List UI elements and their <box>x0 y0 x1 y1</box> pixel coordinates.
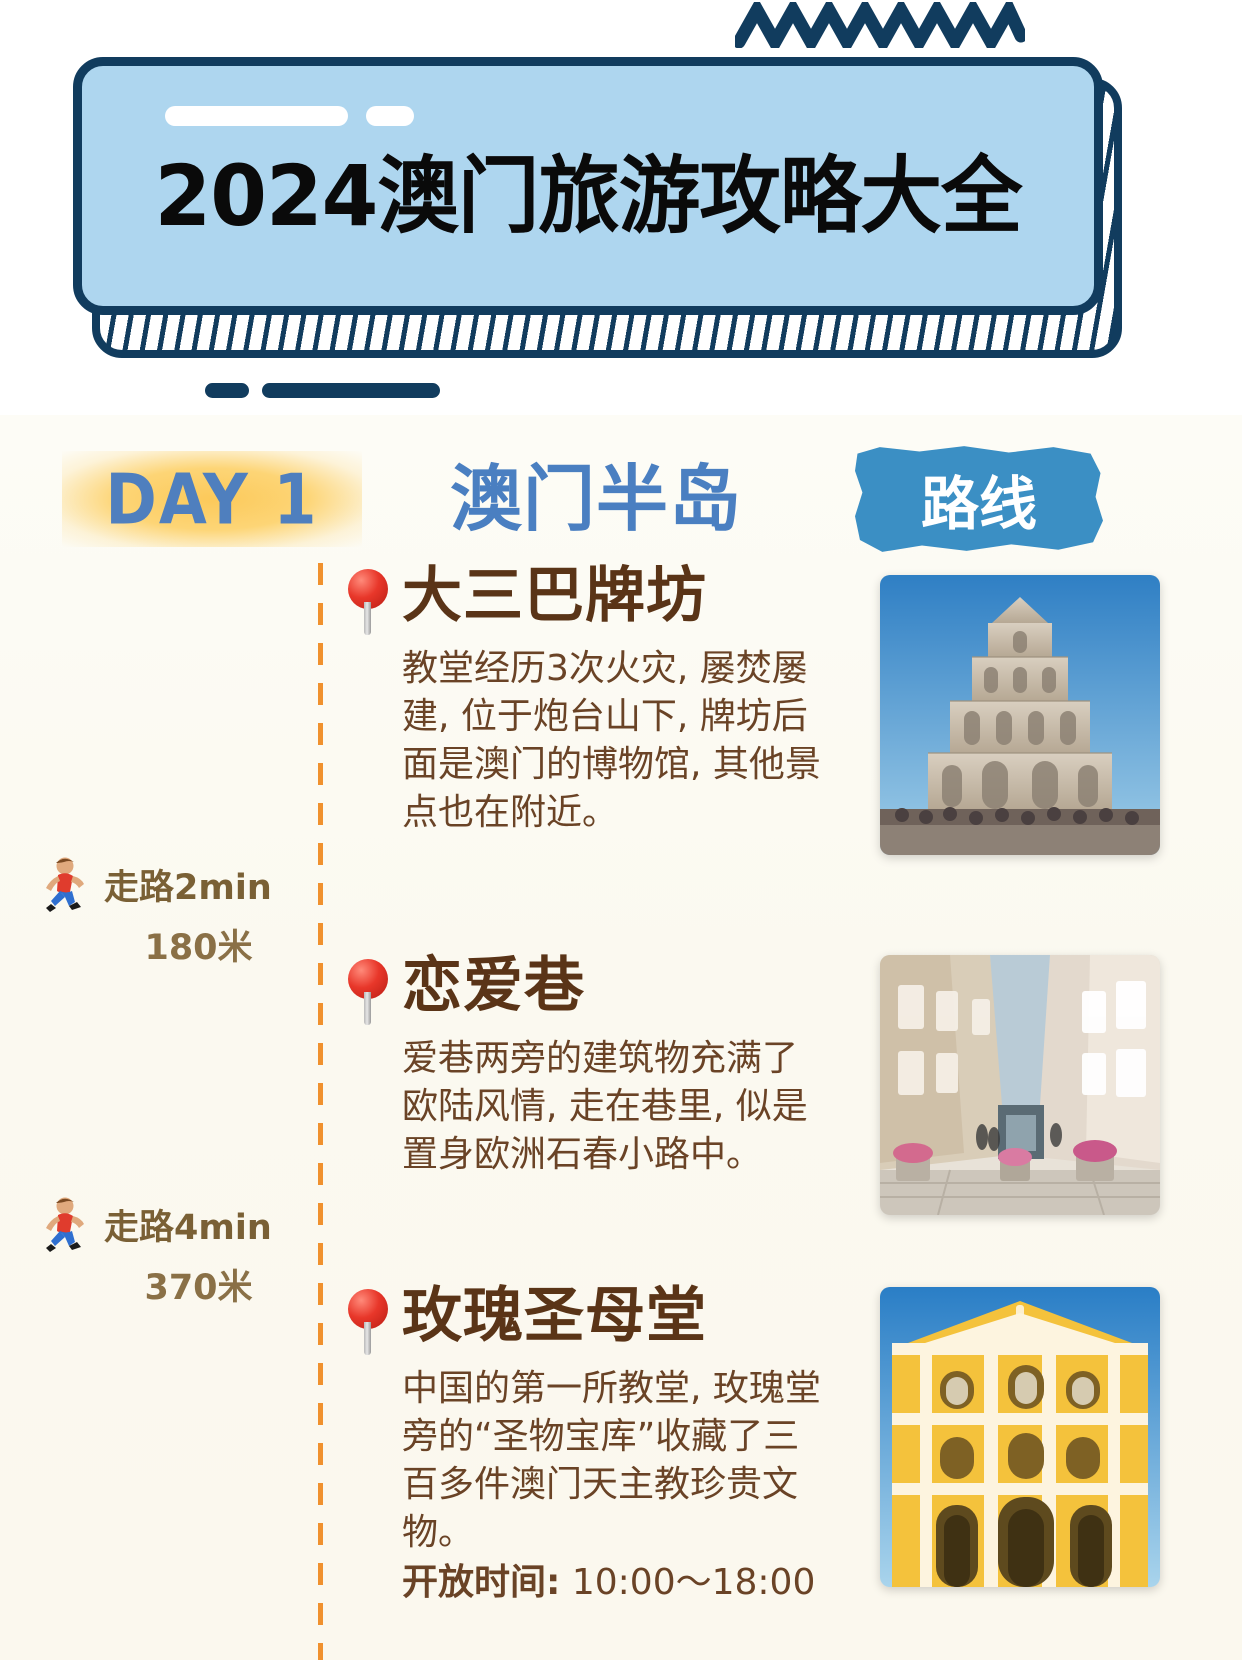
banner-pill-row <box>165 106 414 126</box>
runner-icon <box>38 1195 90 1253</box>
map-pin-icon <box>348 569 388 635</box>
spot-photo-1 <box>880 575 1160 855</box>
dash-decoration <box>205 383 440 398</box>
page-title: 2024澳门旅游攻略大全 <box>97 154 1079 238</box>
spot-description-1: 教堂经历3次火灾, 屡焚屡建, 位于炮台山下, 牌坊后面是澳门的博物馆, 其他景… <box>402 645 827 837</box>
banner-pill-long <box>165 106 348 126</box>
title-banner: 2024澳门旅游攻略大全 <box>73 57 1103 315</box>
walk-distance-1: 180米 <box>30 919 315 970</box>
walk-segment-2: 走路4min 370米 <box>30 1195 315 1310</box>
spot-photo-2 <box>880 955 1160 1215</box>
dash-small <box>205 383 249 398</box>
walk-row-1: 走路2min <box>30 855 315 913</box>
banner-pill-short <box>366 106 414 126</box>
spot-hours-label: 开放时间: <box>402 1562 560 1603</box>
header-zone: 2024澳门旅游攻略大全 <box>0 0 1242 415</box>
walk-row-2: 走路4min <box>30 1195 315 1253</box>
spot-title-2: 恋爱巷 <box>402 955 585 1018</box>
spot-photo-3 <box>880 1287 1160 1587</box>
spot-description-2: 爱巷两旁的建筑物充满了欧陆风情, 走在巷里, 似是置身欧洲石春小路中。 <box>402 1035 827 1179</box>
day-label: DAY 1 <box>105 458 318 540</box>
dash-large <box>262 383 440 398</box>
spot-title-3: 玫瑰圣母堂 <box>402 1285 707 1348</box>
spot-hours-value: 10:00～18:00 <box>572 1562 816 1603</box>
map-pin-icon <box>348 1289 388 1355</box>
walk-distance-2: 370米 <box>30 1259 315 1310</box>
dashed-timeline <box>318 563 323 1660</box>
map-pin-icon <box>348 959 388 1025</box>
spot-title-1: 大三巴牌坊 <box>402 565 707 628</box>
walk-duration-2: 走路4min <box>104 1199 272 1250</box>
region-title: 澳门半岛 <box>450 451 742 547</box>
spot-description-3: 中国的第一所教堂, 玫瑰堂旁的“圣物宝库”收藏了三百多件澳门天主教珍贵文物。 <box>402 1365 827 1557</box>
walk-duration-1: 走路2min <box>104 859 272 910</box>
route-tag: 路线 <box>855 445 1103 553</box>
day-badge: DAY 1 <box>62 451 362 547</box>
zigzag-decoration <box>735 2 1025 48</box>
itinerary-body: DAY 1 澳门半岛 路线 走路2min 180米 <box>0 415 1242 1660</box>
route-tag-label: 路线 <box>855 445 1103 553</box>
walk-segment-1: 走路2min 180米 <box>30 855 315 970</box>
runner-icon <box>38 855 90 913</box>
section-header: DAY 1 澳门半岛 路线 <box>0 433 1242 553</box>
